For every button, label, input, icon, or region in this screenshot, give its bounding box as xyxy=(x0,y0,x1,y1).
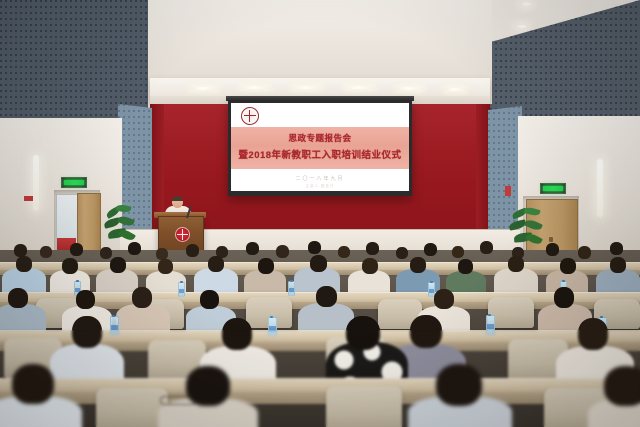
recessed-ceiling-downlight xyxy=(520,1,533,7)
soffit-light-strip xyxy=(240,86,270,89)
audience-row-front xyxy=(0,352,640,427)
slide-title-line-2: 暨2018年新教职工入职培训结业仪式 xyxy=(231,147,409,161)
presenter-head xyxy=(172,196,183,208)
soffit-light-strip xyxy=(190,87,218,90)
emergency-exit-sign-left xyxy=(61,177,87,188)
soffit-light-strip xyxy=(444,88,466,91)
slide-subtitle: 二〇一八年九月 xyxy=(231,175,409,182)
soffit-light-strip xyxy=(396,87,424,90)
projection-screen: 思政专题报告会 暨2018年新教职工入职培训结业仪式 二〇一八年九月 主讲人 报… xyxy=(231,103,409,191)
wall-sconce-right xyxy=(597,159,603,217)
university-emblem-icon xyxy=(241,107,259,125)
slide-footer: 主讲人 报告厅 xyxy=(231,184,409,189)
eyeglasses-icon xyxy=(160,396,196,405)
wall-plaque-right xyxy=(505,186,511,196)
slide-title-line-1: 思政专题报告会 xyxy=(231,132,409,144)
auditorium-photo: 思政专题报告会 暨2018年新教职工入职培训结业仪式 二〇一八年九月 主讲人 报… xyxy=(0,0,640,427)
stage-wall-right-edge xyxy=(476,104,490,232)
exit-sign-glow xyxy=(543,186,562,191)
soffit-light-strip xyxy=(344,86,374,89)
wall-plaque-left xyxy=(24,196,33,201)
emergency-exit-sign-right xyxy=(540,183,566,194)
wall-sconce-left xyxy=(33,155,39,211)
exit-sign-glow xyxy=(64,180,83,185)
soffit-light-strip xyxy=(292,86,322,89)
recessed-ceiling-downlight xyxy=(516,24,528,29)
